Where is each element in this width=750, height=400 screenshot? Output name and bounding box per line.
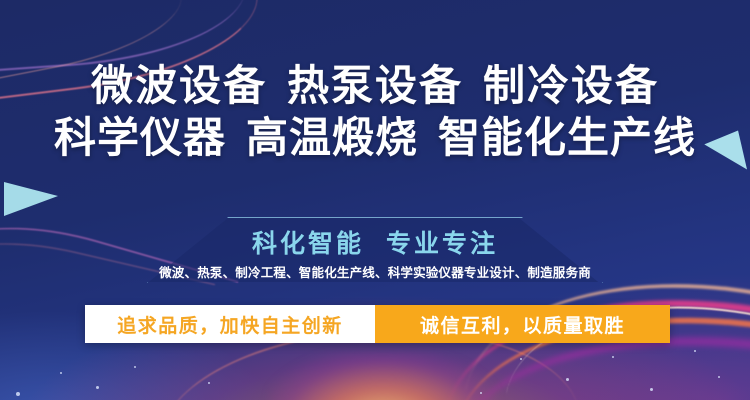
tagline-left: 追求品质，加快自主创新 — [85, 305, 375, 343]
banner-headline: 微波设备热泵设备制冷设备 科学仪器高温煅烧智能化生产线 — [0, 64, 750, 160]
promo-banner: 微波设备热泵设备制冷设备 科学仪器高温煅烧智能化生产线 科化智能专业专注 微波、… — [0, 0, 750, 400]
headline-line1-part-1: 微波设备 — [91, 62, 267, 109]
headline-line-1: 微波设备热泵设备制冷设备 — [0, 64, 750, 109]
light-streak-mid-1 — [0, 190, 238, 400]
tagline-right: 诚信互利，以质量取胜 — [375, 305, 670, 343]
headline-line2-part-2: 高温煅烧 — [246, 114, 418, 161]
headline-line1-part-3: 制冷设备 — [483, 62, 659, 109]
subheadline-left: 科化智能 — [252, 230, 364, 258]
bottom-glow-bloom — [268, 352, 498, 400]
headline-line2-part-1: 科学仪器 — [54, 114, 226, 161]
headline-line-2: 科学仪器高温煅烧智能化生产线 — [0, 116, 750, 161]
headline-line2-part-3: 智能化生产线 — [438, 114, 696, 161]
banner-description: 微波、热泵、制冷工程、智能化生产线、科学实验仪器专业设计、制造服务商 — [0, 262, 750, 281]
tagline-bar: 追求品质，加快自主创新 诚信互利，以质量取胜 — [85, 305, 670, 343]
banner-subheadline: 科化智能专业专注 — [0, 224, 750, 260]
left-arrow-icon — [4, 182, 58, 216]
subheadline-right: 专业专注 — [386, 230, 498, 258]
headline-line1-part-2: 热泵设备 — [287, 62, 463, 109]
